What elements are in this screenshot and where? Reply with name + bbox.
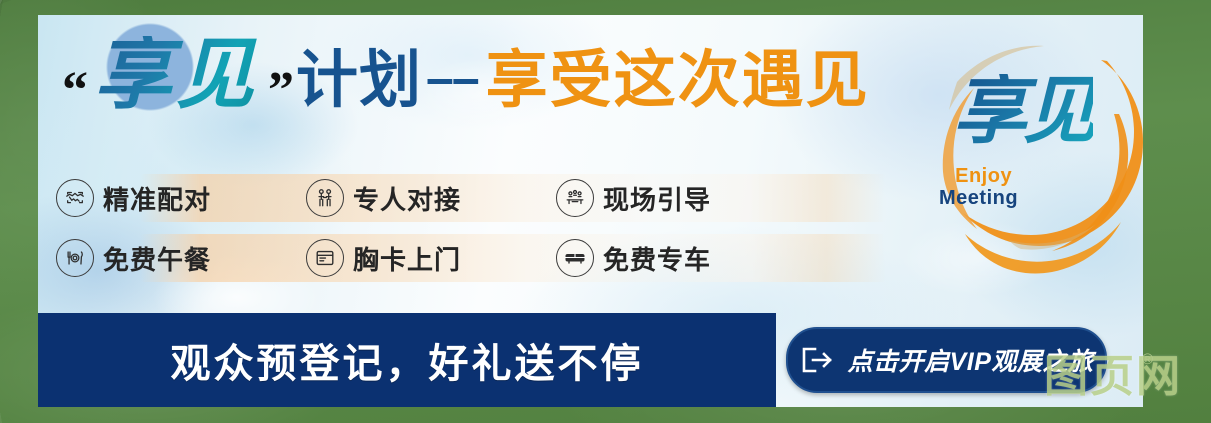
- logo-en-meeting: Meeting: [939, 188, 1018, 210]
- quote-close-mark: ”: [268, 65, 294, 117]
- registration-banner-text: 观众预登记，好礼送不停: [171, 331, 644, 389]
- vip-registration-cta-button[interactable]: 点击开启VIP观展之旅: [786, 327, 1107, 393]
- feature-row-top: 精准配对 专人对接: [56, 172, 856, 224]
- orange-brush-circle-icon: [905, 22, 1163, 302]
- feature-item-matching: 精准配对: [56, 179, 306, 217]
- feature-item-onsite-guide: 现场引导: [556, 179, 806, 217]
- logo-english-tagline: Enjoy Meeting: [939, 166, 1018, 209]
- logo-chinese-mark: 享见: [953, 74, 1093, 148]
- handshake-icon: [56, 179, 94, 217]
- two-people-icon: [306, 179, 344, 217]
- brush-title-xiangjian: 享见: [88, 36, 264, 114]
- bus-icon: [556, 239, 594, 277]
- logo-en-enjoy: Enjoy: [939, 166, 1018, 188]
- feature-label: 免费专车: [603, 240, 711, 277]
- headline-plan-word: 计划: [296, 50, 422, 112]
- feature-label: 专人对接: [353, 180, 461, 217]
- feature-list: 精准配对 专人对接: [56, 172, 856, 292]
- meeting-table-icon: [556, 179, 594, 217]
- exit-arrow-icon: [800, 345, 834, 375]
- headline-orange-phrase: 享受这次遇见: [486, 50, 870, 112]
- feature-label: 精准配对: [103, 180, 211, 217]
- headline-dashes: ––: [426, 49, 478, 107]
- feature-item-liaison: 专人对接: [306, 179, 556, 217]
- feature-label: 现场引导: [603, 180, 711, 217]
- registration-banner-bar: 观众预登记，好礼送不停: [38, 313, 776, 407]
- enjoy-meeting-logo: 享见 Enjoy Meeting: [905, 22, 1163, 302]
- feature-item-free-lunch: 免费午餐: [56, 239, 306, 277]
- promo-banner: “ 享见 ” 计划 –– 享受这次遇见 精准配对: [0, 0, 1211, 423]
- feature-label: 胸卡上门: [353, 240, 461, 277]
- badge-card-icon: [306, 239, 344, 277]
- feature-item-free-shuttle: 免费专车: [556, 239, 806, 277]
- vip-cta-label: 点击开启VIP观展之旅: [848, 342, 1094, 378]
- feature-item-badge-delivery: 胸卡上门: [306, 239, 556, 277]
- feature-label: 免费午餐: [103, 240, 211, 277]
- cutlery-plate-icon: [56, 239, 94, 277]
- feature-row-bottom: 免费午餐 胸卡上门: [56, 232, 856, 284]
- quote-open-mark: “: [62, 65, 88, 117]
- headline: “ 享见 ” 计划 –– 享受这次遇见: [62, 36, 870, 114]
